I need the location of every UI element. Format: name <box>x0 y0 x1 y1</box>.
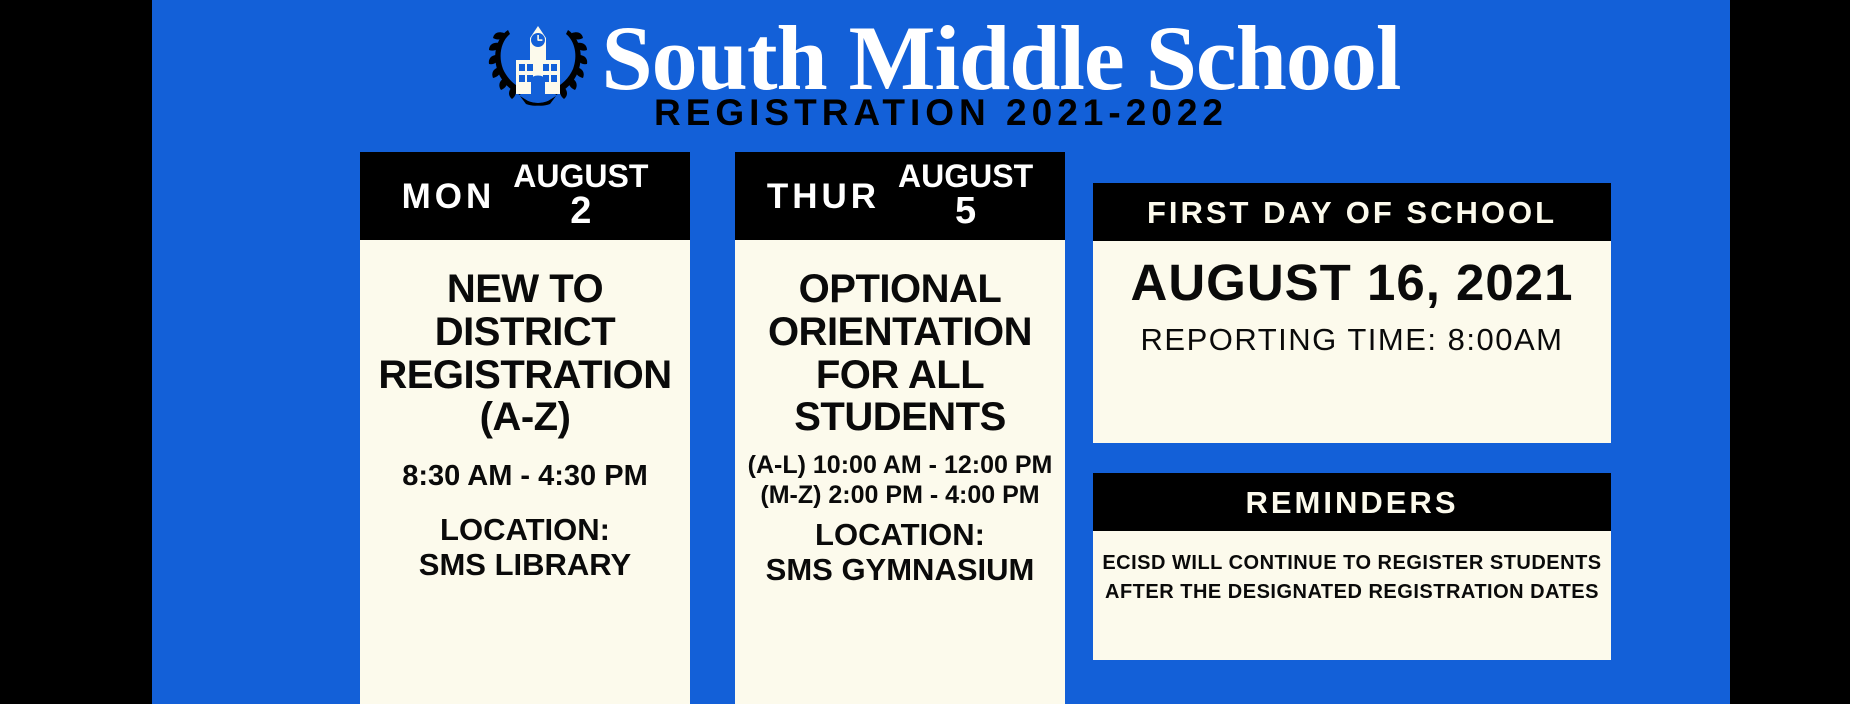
day-card-thur-august-5: THUR AUGUST 5 OPTIONAL ORIENTATION FOR A… <box>735 152 1065 704</box>
day-card-body: NEW TO DISTRICT REGISTRATION (A-Z) 8:30 … <box>360 240 690 704</box>
reminder-line: AFTER THE DESIGNATED REGISTRATION DATES <box>1101 578 1603 607</box>
location-value: SMS LIBRARY <box>372 548 678 583</box>
first-day-header-text: FIRST DAY OF SCHOOL <box>1147 197 1557 228</box>
day-month-label: AUGUST <box>898 160 1033 192</box>
day-date-group: AUGUST 5 <box>898 160 1033 232</box>
location-label: LOCATION: <box>747 518 1053 553</box>
main-line: NEW TO <box>372 268 678 311</box>
time-line: (M-Z) 2:00 PM - 4:00 PM <box>747 481 1053 511</box>
first-day-header: FIRST DAY OF SCHOOL <box>1093 183 1611 241</box>
location-value: SMS GYMNASIUM <box>747 553 1053 588</box>
day-number-label: 5 <box>955 192 976 232</box>
first-day-date: AUGUST 16, 2021 <box>1103 255 1601 311</box>
school-title: South Middle School <box>602 15 1401 102</box>
day-card-times: (A-L) 10:00 AM - 12:00 PM (M-Z) 2:00 PM … <box>747 451 1053 510</box>
main-line: OPTIONAL <box>747 268 1053 311</box>
day-date-group: AUGUST 2 <box>513 160 648 232</box>
main-line: STUDENTS <box>747 396 1053 439</box>
reminders-body: ECISD WILL CONTINUE TO REGISTER STUDENTS… <box>1093 531 1611 607</box>
main-line: REGISTRATION <box>372 354 678 397</box>
day-month-label: AUGUST <box>513 160 648 192</box>
day-card-mon-august-2: MON AUGUST 2 NEW TO DISTRICT REGISTRATIO… <box>360 152 690 704</box>
time-line: 8:30 AM - 4:30 PM <box>372 459 678 493</box>
location-label: LOCATION: <box>372 513 678 548</box>
day-card-main-text: NEW TO DISTRICT REGISTRATION (A-Z) <box>372 268 678 439</box>
main-line: DISTRICT <box>372 311 678 354</box>
day-number-label: 2 <box>570 192 591 232</box>
day-card-header: MON AUGUST 2 <box>360 152 690 240</box>
time-line: (A-L) 10:00 AM - 12:00 PM <box>747 451 1053 481</box>
first-day-reporting-time: REPORTING TIME: 8:00AM <box>1103 321 1601 358</box>
day-card-location: LOCATION: SMS LIBRARY <box>372 513 678 582</box>
poster-header: South Middle School REGISTRATION 2021-20… <box>152 0 1730 130</box>
reminder-line: ECISD WILL CONTINUE TO REGISTER STUDENTS <box>1101 549 1603 578</box>
main-line: FOR ALL <box>747 354 1053 397</box>
reminders-header-text: REMINDERS <box>1245 487 1458 518</box>
day-card-location: LOCATION: SMS GYMNASIUM <box>747 518 1053 587</box>
first-day-body: AUGUST 16, 2021 REPORTING TIME: 8:00AM <box>1093 241 1611 358</box>
reminders-box: REMINDERS ECISD WILL CONTINUE TO REGISTE… <box>1093 473 1611 660</box>
day-card-times: 8:30 AM - 4:30 PM <box>372 459 678 493</box>
first-day-of-school-box: FIRST DAY OF SCHOOL AUGUST 16, 2021 REPO… <box>1093 183 1611 443</box>
day-card-body: OPTIONAL ORIENTATION FOR ALL STUDENTS (A… <box>735 240 1065 704</box>
main-line: (A-Z) <box>372 396 678 439</box>
main-line: ORIENTATION <box>747 311 1053 354</box>
poster-canvas: South Middle School REGISTRATION 2021-20… <box>0 0 1850 704</box>
day-card-main-text: OPTIONAL ORIENTATION FOR ALL STUDENTS <box>747 268 1053 439</box>
day-card-header: THUR AUGUST 5 <box>735 152 1065 240</box>
day-name-label: MON <box>402 179 496 214</box>
reminders-header: REMINDERS <box>1093 473 1611 531</box>
registration-subtitle: REGISTRATION 2021-2022 <box>152 92 1730 134</box>
day-name-label: THUR <box>767 179 880 214</box>
